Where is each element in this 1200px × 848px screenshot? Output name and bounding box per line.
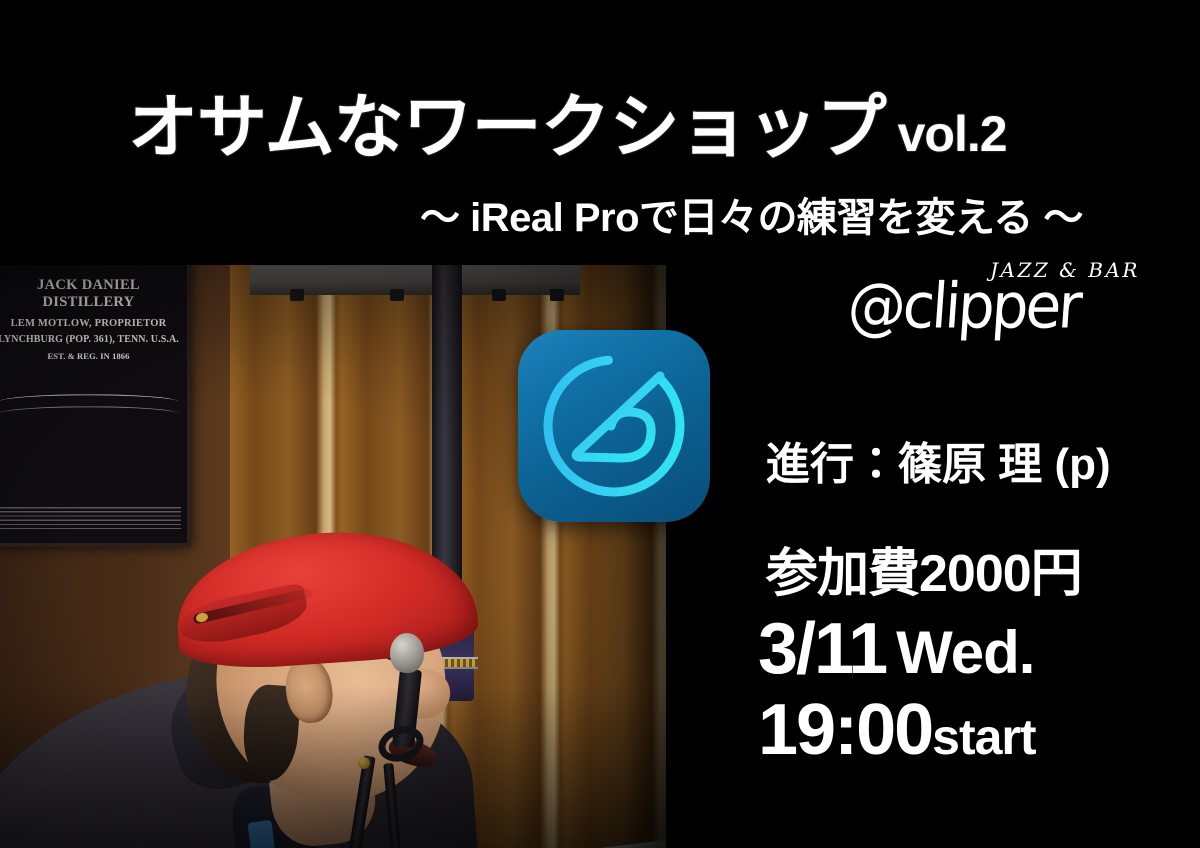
cabinet-foot <box>492 289 506 301</box>
event-weekday: Wed. <box>896 619 1034 686</box>
wall-poster-line-2: LEM MOTLOW, PROPRIETOR <box>0 318 187 329</box>
title-text: オサムなワークショップ <box>128 88 886 166</box>
title-volume: vol.2 <box>898 106 1007 162</box>
wall-poster-line-4: EST. & REG. IN 1866 <box>0 351 187 361</box>
event-flyer: JACK DANIEL DISTILLERY LEM MOTLOW, PROPR… <box>0 0 1200 848</box>
venue-name: @clipper <box>845 269 1081 342</box>
wall-poster-fine-print <box>0 507 181 529</box>
event-time: 19:00start <box>758 694 1036 766</box>
mic-stand-knob <box>358 757 370 769</box>
event-start-label: start <box>932 709 1035 765</box>
fee-line: 参加費2000円 <box>766 548 1082 600</box>
subtitle: 〜 iReal Proで日々の練習を変える 〜 <box>420 198 1083 238</box>
ireal-pro-app-icon <box>518 330 710 522</box>
speaker-cabinet <box>250 265 580 295</box>
jack-daniel-wall-poster: JACK DANIEL DISTILLERY LEM MOTLOW, PROPR… <box>0 265 191 547</box>
event-date: 3/11Wed. <box>758 613 1034 685</box>
wall-poster-flourish-secondary <box>0 406 179 421</box>
wall-poster-line-3: LYNCHBURG (POP. 361), TENN. U.S.A. <box>0 334 187 345</box>
cabinet-foot <box>390 289 404 301</box>
cabinet-foot <box>290 289 304 301</box>
event-time-value: 19:00 <box>758 690 932 770</box>
venue-logo: JAZZ & BAR @clipper <box>848 258 1148 338</box>
host-line: 進行：篠原 理 (p) <box>766 443 1111 487</box>
cabinet-foot <box>550 289 564 301</box>
microphone-head <box>390 633 424 673</box>
page-title: オサムなワークショップvol.2 <box>128 92 1007 162</box>
event-date-value: 3/11 <box>758 609 886 689</box>
wall-poster-line-1: JACK DANIEL DISTILLERY <box>0 277 187 311</box>
